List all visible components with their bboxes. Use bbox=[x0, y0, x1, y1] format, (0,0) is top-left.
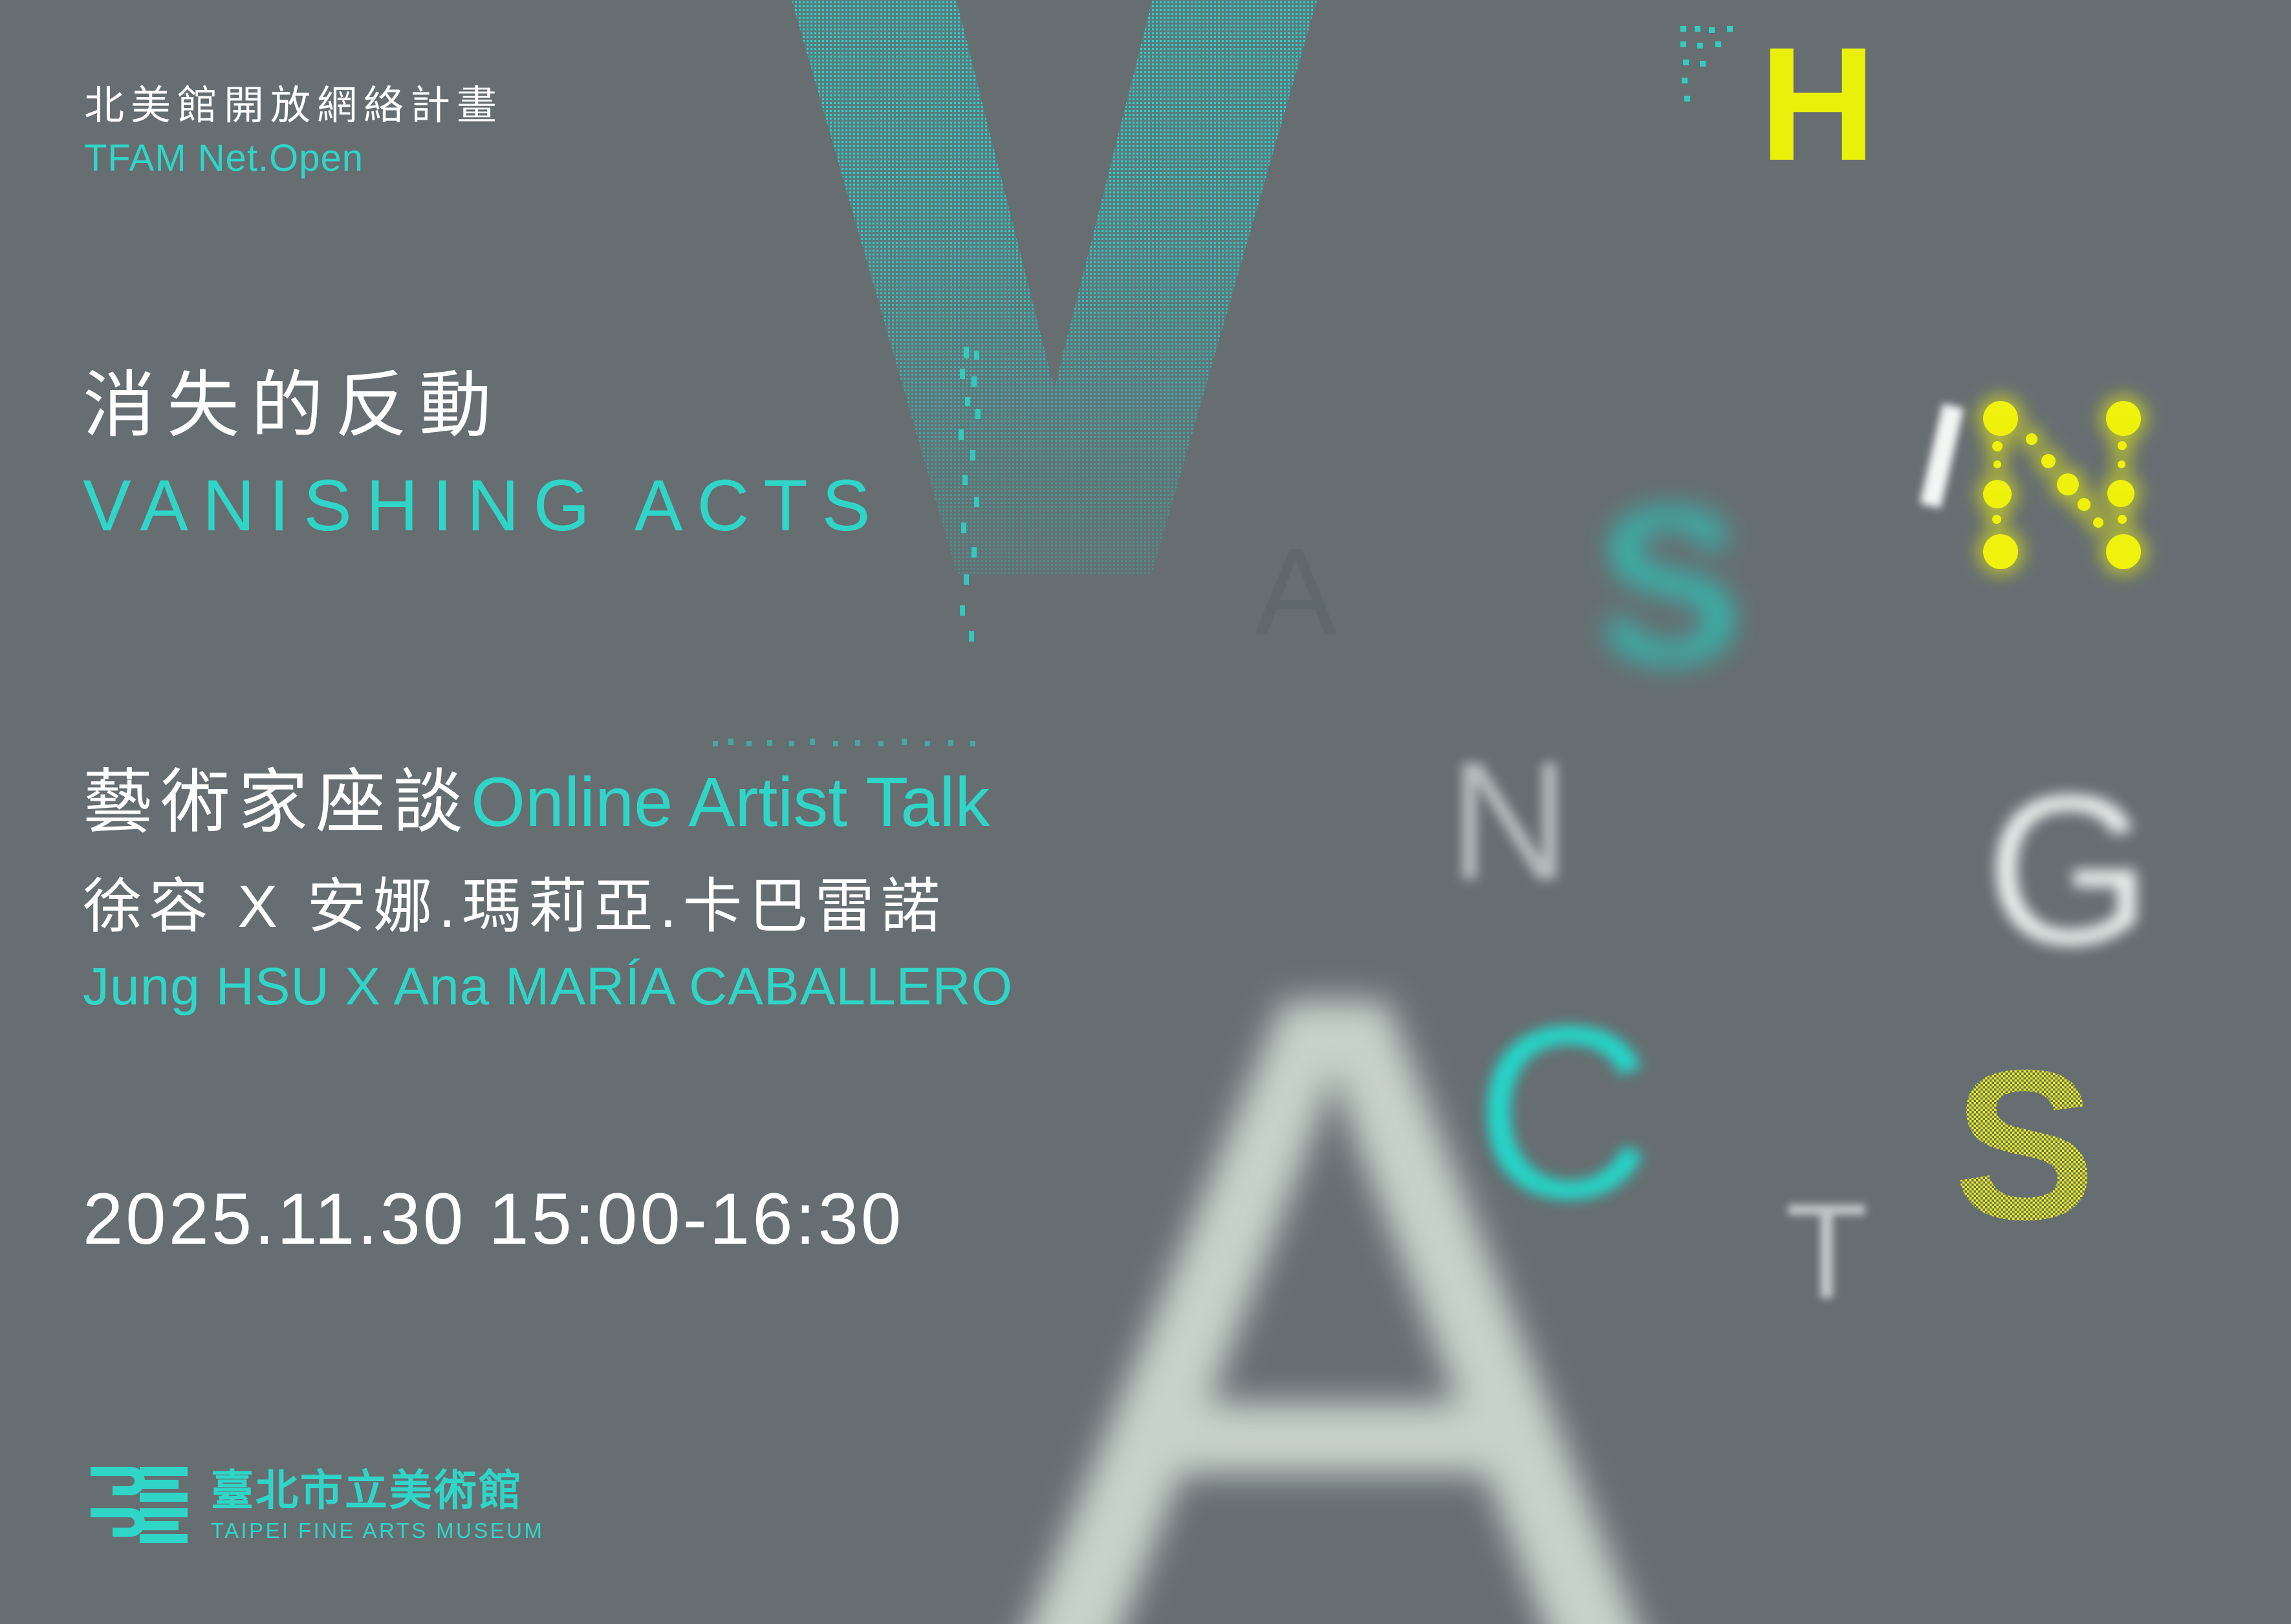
tfam-monogram-icon bbox=[91, 1467, 188, 1543]
exhibition-title-en: VANISHING ACTS bbox=[83, 457, 884, 554]
exhibition-title-zh: 消失的反動 bbox=[83, 362, 884, 449]
brand-title-zh: 北美館開放網絡計畫 bbox=[84, 83, 503, 129]
event-datetime: 2025.11.30 15:00-16:30 bbox=[83, 1177, 904, 1261]
title-block: 消失的反動 VANISHING ACTS bbox=[83, 362, 884, 555]
brand-block: 北美館開放網絡計畫 TFAM Net.Open bbox=[84, 83, 503, 182]
tfam-logo: 臺北市立美術館 TAIPEI FINE ARTS MUSEUM bbox=[91, 1467, 544, 1543]
poster-content: 北美館開放網絡計畫 TFAM Net.Open 消失的反動 VANISHING … bbox=[0, 0, 2291, 1624]
tfam-name-zh: 臺北市立美術館 bbox=[211, 1469, 544, 1511]
poster-canvas: A A bbox=[0, 0, 2291, 1624]
artist-talk-label-en: Online Artist Talk bbox=[471, 763, 990, 841]
tfam-logo-text: 臺北市立美術館 TAIPEI FINE ARTS MUSEUM bbox=[211, 1469, 544, 1541]
artist-talk-heading: 藝術家座談Online Artist Talk bbox=[83, 763, 1013, 841]
tfam-name-en: TAIPEI FINE ARTS MUSEUM bbox=[211, 1520, 544, 1541]
artist-talk-block: 藝術家座談Online Artist Talk 徐容 X 安娜.瑪莉亞.卡巴雷諾… bbox=[83, 763, 1013, 1020]
brand-title-en: TFAM Net.Open bbox=[84, 135, 503, 182]
artist-names-zh: 徐容 X 安娜.瑪莉亞.卡巴雷諾 bbox=[83, 869, 1013, 946]
artist-talk-label-zh: 藝術家座談 bbox=[83, 763, 471, 841]
artist-names-en: Jung HSU X Ana MARÍA CABALLERO bbox=[83, 954, 1013, 1021]
